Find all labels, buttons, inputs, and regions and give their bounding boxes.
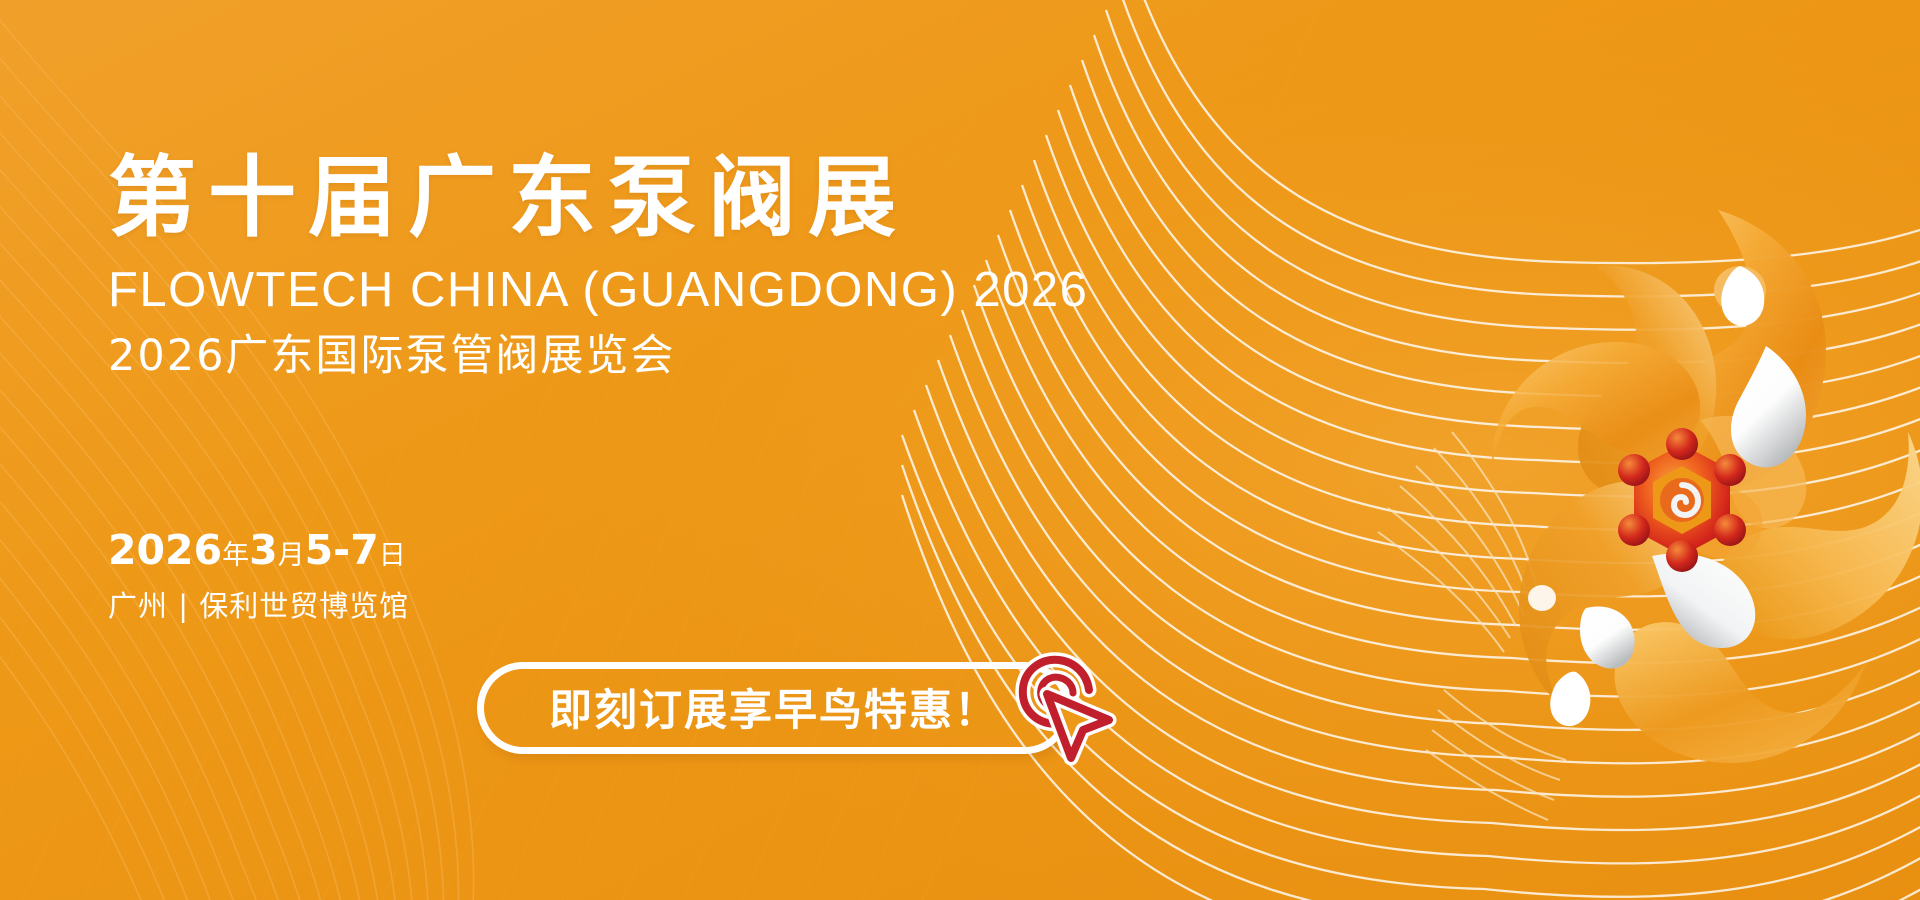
valve-handwheel-icon	[1618, 428, 1746, 572]
water-droplets	[1528, 266, 1806, 726]
date-month-unit: 月	[278, 540, 305, 571]
date-days: 5-7	[305, 526, 379, 574]
event-venue: 广州 | 保利世贸博览馆	[108, 589, 409, 624]
flower-petals	[1492, 210, 1920, 763]
date-year: 2026	[108, 526, 222, 574]
pinwheel-flower-graphic	[1400, 170, 1920, 790]
cta-button-label: 即刻订展享早鸟特惠！	[549, 676, 999, 738]
cta-wrapper: 即刻订展享早鸟特惠！	[477, 662, 1071, 754]
english-title: FLOWTECH CHINA (GUANGDONG) 2026	[108, 264, 1088, 318]
page-title: 第十届广东泵阀展	[108, 152, 1088, 244]
chinese-subtitle: 2026广东国际泵管阀展览会	[108, 332, 1088, 381]
fan-ray-lines	[1378, 432, 1566, 820]
flower-svg	[1400, 170, 1920, 790]
early-bird-cta-button[interactable]: 即刻订展享早鸟特惠！	[477, 662, 1071, 754]
event-date: 2026年3月5-7日	[108, 528, 409, 573]
event-info-block: 2026年3月5-7日 广州 | 保利世贸博览馆	[108, 528, 409, 624]
date-year-unit: 年	[222, 540, 249, 571]
banner-content: 第十届广东泵阀展 FLOWTECH CHINA (GUANGDONG) 2026…	[108, 0, 1208, 900]
exhibition-banner: 第十届广东泵阀展 FLOWTECH CHINA (GUANGDONG) 2026…	[0, 0, 1920, 900]
title-block: 第十届广东泵阀展 FLOWTECH CHINA (GUANGDONG) 2026…	[108, 152, 1088, 382]
date-day-unit: 日	[379, 540, 406, 571]
date-month: 3	[249, 526, 278, 574]
